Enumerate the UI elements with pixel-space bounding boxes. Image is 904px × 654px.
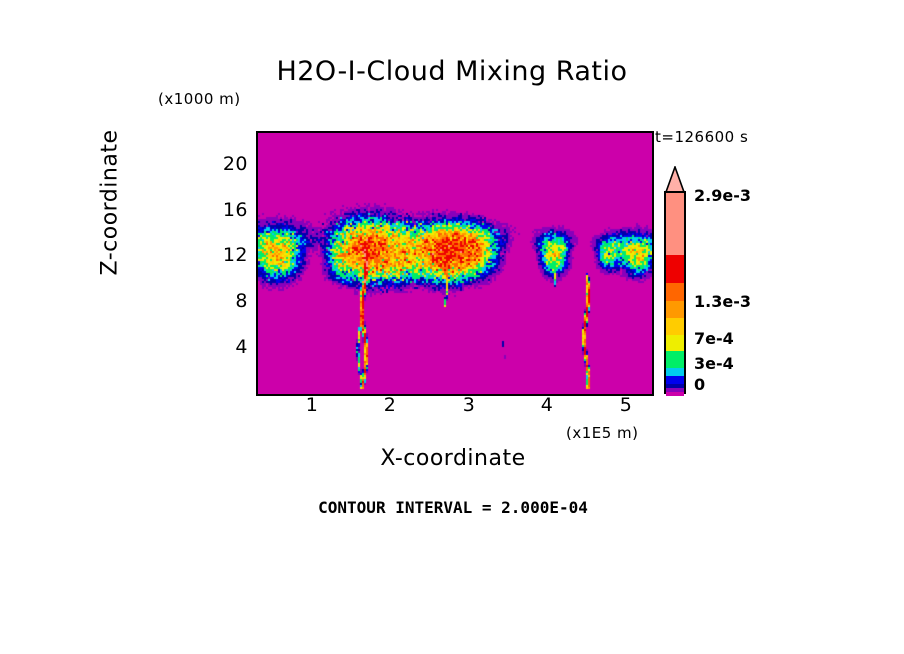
colorbar-tick-label: 3e-4 <box>694 354 734 373</box>
colorbar[interactable]: 2.9e-31.3e-37e-43e-40 <box>664 166 894 398</box>
y-tick-label: 16 <box>208 199 248 221</box>
contour-interval-annotation: CONTOUR INTERVAL = 2.000E-04 <box>256 498 650 517</box>
y-axis-ticks: 20161284 <box>196 131 248 392</box>
contour-plot-area[interactable] <box>256 131 654 396</box>
y-axis-title: Z-coordinate <box>98 73 123 333</box>
colorbar-band-blue <box>666 376 684 384</box>
colorbar-band-gold <box>666 318 684 335</box>
colorbar-band-cyan <box>666 368 684 376</box>
colorbar-arrow-icon <box>664 166 686 192</box>
y-axis-unit-label: (x1000 m) <box>158 90 241 108</box>
colorbar-tick-label: 1.3e-3 <box>694 292 751 311</box>
y-tick-label: 8 <box>208 290 248 312</box>
colorbar-band-orange <box>666 301 684 318</box>
colorbar-band-yellow <box>666 335 684 351</box>
colorbar-bands <box>664 191 686 394</box>
x-axis-ticks: 12345 <box>256 394 650 420</box>
x-tick-label: 2 <box>370 394 410 416</box>
colorbar-tick-label: 7e-4 <box>694 329 734 348</box>
y-tick-label: 20 <box>208 153 248 175</box>
colorbar-band-magenta <box>666 392 684 396</box>
y-tick-label: 12 <box>208 244 248 266</box>
page-title: H2O-I-Cloud Mixing Ratio <box>0 56 904 87</box>
colorbar-tick-label: 2.9e-3 <box>694 186 751 205</box>
colorbar-band-red <box>666 255 684 283</box>
x-axis-title: X-coordinate <box>256 446 650 471</box>
x-tick-label: 3 <box>449 394 489 416</box>
x-tick-label: 1 <box>292 394 332 416</box>
colorbar-band-salmon <box>666 193 684 255</box>
timestamp-label: t=126600 s <box>655 128 748 146</box>
x-tick-label: 4 <box>527 394 567 416</box>
contour-field-canvas <box>258 133 652 394</box>
colorbar-band-dark-orange <box>666 283 684 301</box>
x-axis-unit-label: (x1E5 m) <box>566 424 639 442</box>
y-tick-label: 4 <box>208 336 248 358</box>
colorbar-tick-label: 0 <box>694 375 705 394</box>
x-tick-label: 5 <box>606 394 646 416</box>
colorbar-band-green <box>666 351 684 368</box>
